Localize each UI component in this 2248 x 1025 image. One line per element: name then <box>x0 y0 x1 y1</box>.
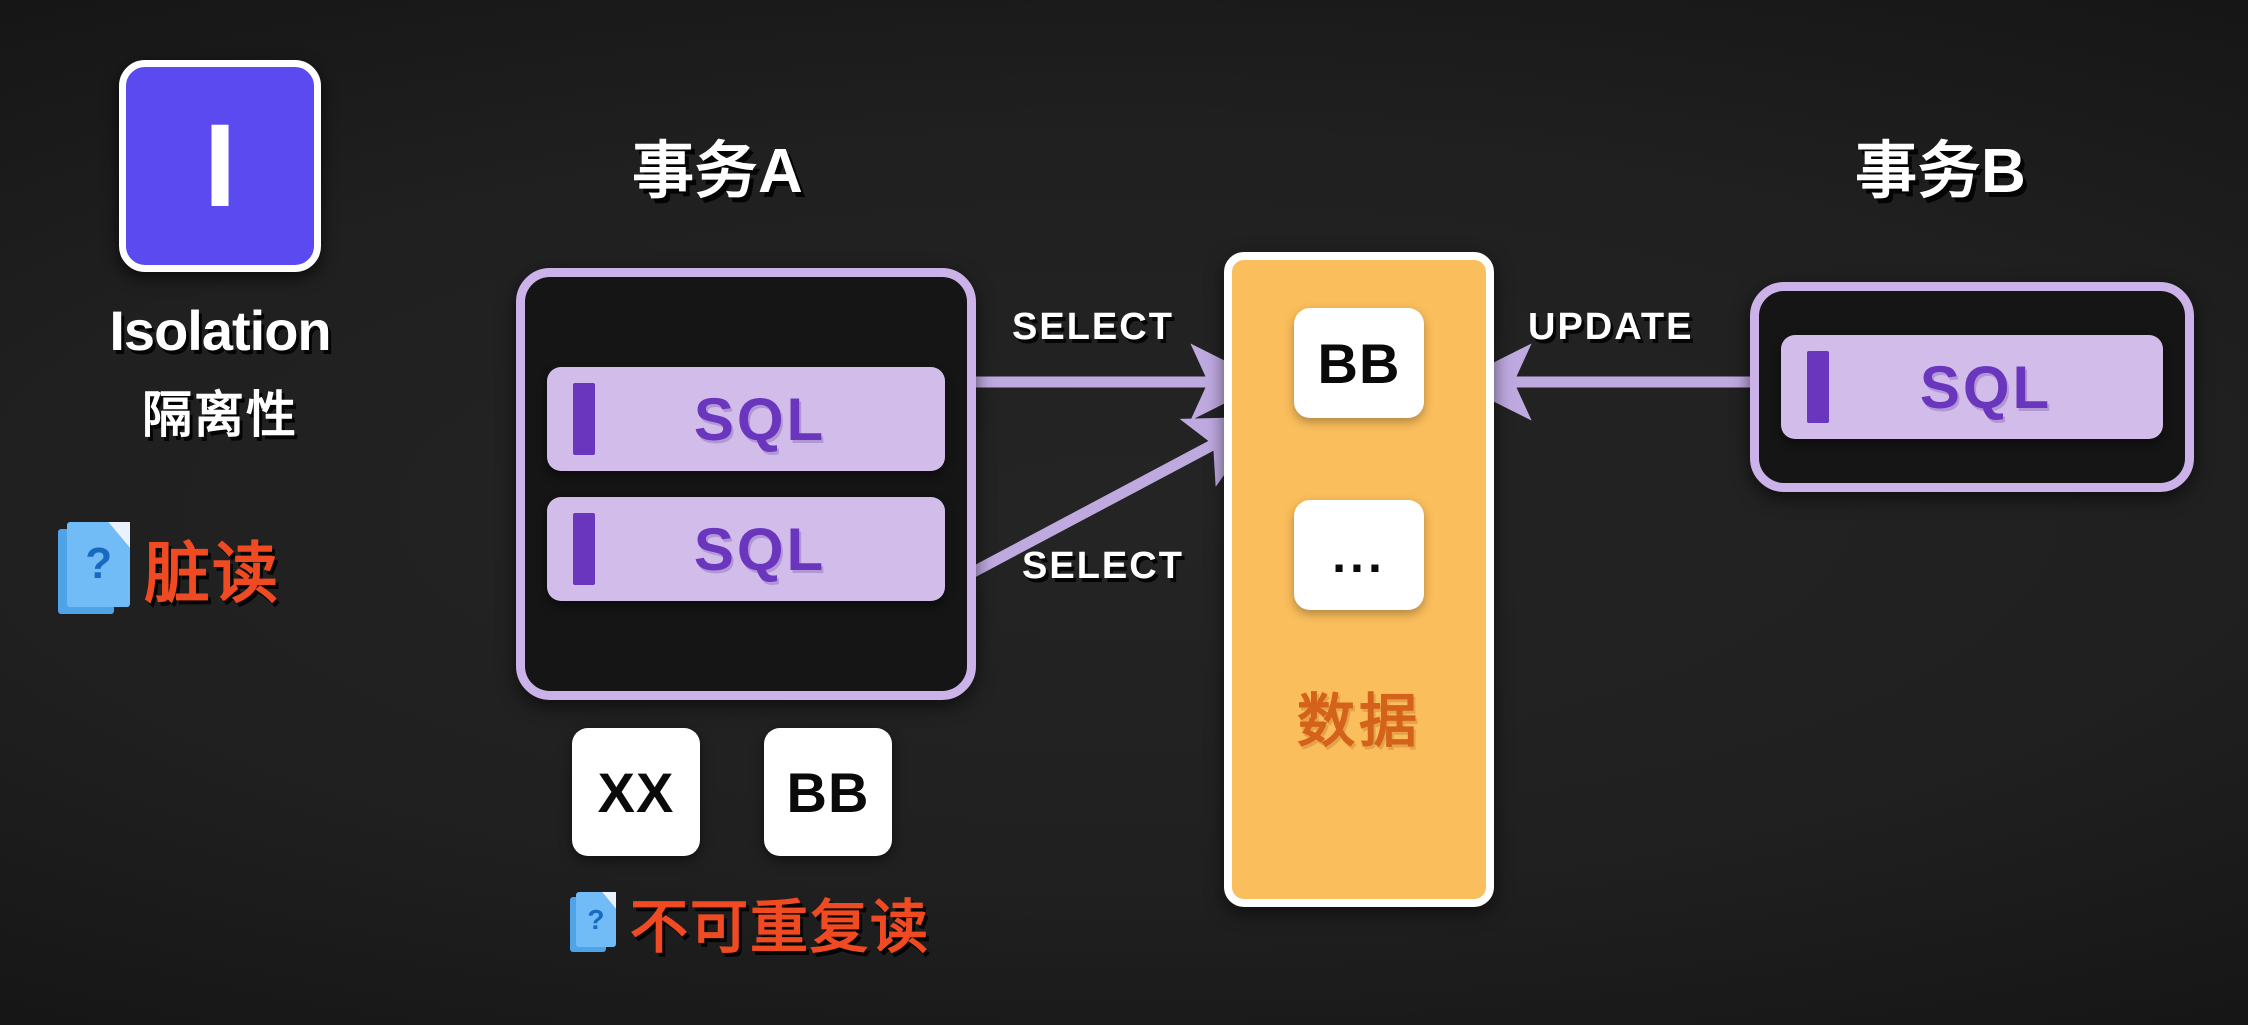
data-cell-bb[interactable]: BB <box>1294 308 1424 418</box>
data-cell-ellipsis: ... <box>1294 500 1424 610</box>
diagram-canvas: I Isolation 隔离性 ? 脏读 事务A SQL SQL SELECT … <box>0 0 2248 1025</box>
non-repeatable-read-annotation: ? 不可重复读 <box>570 880 930 964</box>
txn-b-sql-statement-1[interactable]: SQL <box>1781 335 2163 439</box>
data-store-panel: BB ... 数据 <box>1224 252 1494 907</box>
document-question-icon: ? <box>58 522 130 614</box>
dirty-read-label: 脏读 <box>144 520 280 616</box>
dirty-read-annotation: ? 脏读 <box>58 520 280 616</box>
arrow-label-select-2: SELECT <box>1022 545 1184 588</box>
isolation-badge: I <box>119 60 321 272</box>
isolation-chinese-label: 隔离性 <box>40 375 400 447</box>
sql-accent-bar <box>1807 351 1829 423</box>
sql-accent-bar <box>573 383 595 455</box>
sql-accent-bar <box>573 513 595 585</box>
read-result-chip-1: XX <box>572 728 700 856</box>
txn-a-sql-statement-2[interactable]: SQL <box>547 497 945 601</box>
txn-b-sql-label-1: SQL <box>1781 353 2163 422</box>
isolation-legend: I Isolation 隔离性 <box>40 60 400 447</box>
read-result-chip-2: BB <box>764 728 892 856</box>
transaction-a-box: SQL SQL <box>516 268 976 700</box>
arrow-label-select-1: SELECT <box>1012 306 1174 349</box>
txn-a-sql-statement-1[interactable]: SQL <box>547 367 945 471</box>
non-repeatable-read-label: 不可重复读 <box>630 880 930 964</box>
arrow-label-update: UPDATE <box>1528 306 1693 349</box>
isolation-english-label: Isolation <box>40 298 400 363</box>
transaction-a-title: 事务A <box>632 120 804 210</box>
txn-a-sql-label-2: SQL <box>547 515 945 584</box>
data-store-label: 数据 <box>1297 674 1421 758</box>
transaction-b-box: SQL <box>1750 282 2194 492</box>
isolation-badge-letter: I <box>204 107 237 225</box>
transaction-b-title: 事务B <box>1855 120 2027 210</box>
document-question-icon: ? <box>570 892 616 952</box>
txn-a-sql-label-1: SQL <box>547 385 945 454</box>
